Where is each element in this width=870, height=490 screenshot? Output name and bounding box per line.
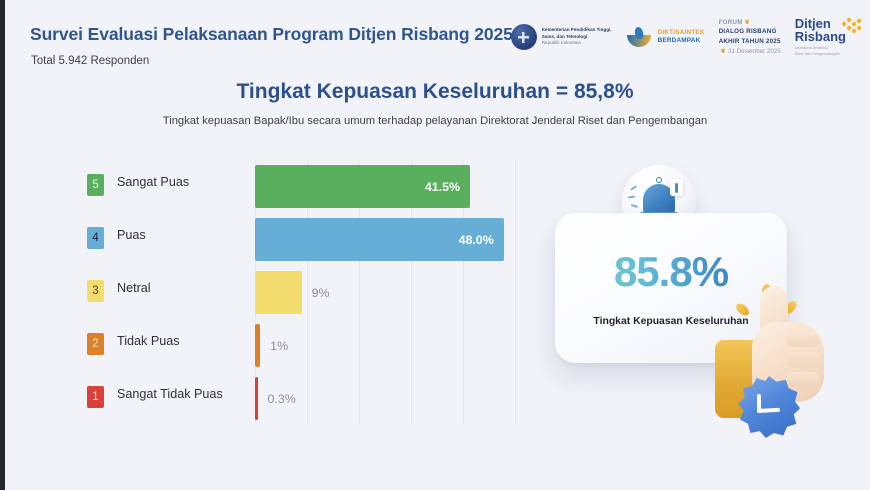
verified-check-badge-icon bbox=[738, 376, 800, 438]
score-badge: 5 bbox=[87, 174, 104, 196]
bar-value-label: 9% bbox=[312, 286, 330, 300]
ditjen-sub2: Riset dan Pengembangan bbox=[795, 51, 846, 57]
thumbs-up-icon bbox=[710, 278, 860, 438]
logo-forum-dialog: FORUM ❦ DIALOG RISBANG AKHIR TAHUN 2025 … bbox=[719, 18, 781, 56]
chart-row: 4Puas48.0% bbox=[30, 213, 540, 266]
diktisaintek-line1: DIKTISAINTEK bbox=[658, 29, 705, 37]
left-edge-strip bbox=[0, 0, 5, 490]
kemdikbud-label: Kementerian Pendidikan Tinggi, Sains, da… bbox=[542, 27, 612, 48]
score-badge: 4 bbox=[87, 227, 104, 249]
respondent-total: Total 5.942 Responden bbox=[31, 55, 149, 67]
chart-row: 5Sangat Puas41.5% bbox=[30, 160, 540, 213]
bar: 48.0% bbox=[255, 218, 504, 261]
logo-group: Kementerian Pendidikan Tinggi, Sains, da… bbox=[511, 14, 862, 60]
category-label: Netral bbox=[117, 281, 151, 295]
category-label: Sangat Puas bbox=[117, 175, 189, 189]
kemdikbud-line3: Republik Indonesia bbox=[542, 40, 612, 47]
category-label: Tidak Puas bbox=[117, 334, 180, 348]
satisfaction-bar-chart: 5Sangat Puas41.5%4Puas48.0%9%3Netral1%2T… bbox=[30, 160, 540, 425]
ditjen-line2: Risbang bbox=[795, 30, 846, 43]
forum-accent-icon: ❦ bbox=[745, 19, 750, 26]
kemdikbud-seal-icon bbox=[511, 24, 537, 50]
bar bbox=[255, 377, 258, 420]
ditjen-line1: Ditjen bbox=[795, 17, 846, 30]
bar-value-label: 48.0% bbox=[459, 233, 494, 247]
diktisaintek-line2: BERDAMPAK bbox=[658, 37, 705, 45]
score-badge: 2 bbox=[87, 333, 104, 355]
chart-row: 0.3%1Sangat Tidak Puas bbox=[30, 372, 540, 425]
forum-line2: DIALOG RISBANG bbox=[719, 27, 781, 37]
bar-value-label: 1% bbox=[270, 339, 288, 353]
forum-line1: FORUM bbox=[719, 19, 743, 26]
header-bar: Survei Evaluasi Pelaksanaan Program Ditj… bbox=[0, 0, 870, 70]
bar-value-label: 41.5% bbox=[425, 180, 460, 194]
kemdikbud-line2: Sains, dan Teknologi bbox=[542, 34, 612, 41]
chart-subtitle: Tingkat kepuasan Bapak/Ibu secara umum t… bbox=[0, 115, 870, 127]
logo-ditjen-risbang: Ditjen Risbang Direktorat Jenderal Riset… bbox=[795, 17, 862, 57]
score-badge: 1 bbox=[87, 386, 104, 408]
category-label: Sangat Tidak Puas bbox=[117, 387, 223, 401]
bar-value-label: 0.3% bbox=[268, 392, 296, 406]
slide-canvas: Survei Evaluasi Pelaksanaan Program Ditj… bbox=[0, 0, 870, 490]
forum-date: 31 Desember 2025 bbox=[728, 48, 781, 55]
bar bbox=[255, 324, 260, 367]
chart-title: Tingkat Kepuasan Keseluruhan = 85,8% bbox=[0, 80, 870, 104]
page-title: Survei Evaluasi Pelaksanaan Program Ditj… bbox=[30, 24, 513, 45]
diktisaintek-mark-icon bbox=[626, 26, 653, 48]
diktisaintek-label: DIKTISAINTEK BERDAMPAK bbox=[658, 29, 705, 45]
forum-date-mark-icon: ❦ bbox=[721, 48, 726, 55]
chart-row: 9%3Netral bbox=[30, 266, 540, 319]
category-label: Puas bbox=[117, 228, 146, 242]
bar: 41.5% bbox=[255, 165, 470, 208]
bar bbox=[255, 271, 302, 314]
logo-diktisaintek: DIKTISAINTEK BERDAMPAK bbox=[626, 26, 705, 48]
logo-kemdikbud: Kementerian Pendidikan Tinggi, Sains, da… bbox=[511, 24, 612, 50]
forum-line3: AKHIR TAHUN 2025 bbox=[719, 37, 781, 47]
bell-tag-icon bbox=[670, 179, 683, 196]
kemdikbud-line1: Kementerian Pendidikan Tinggi, bbox=[542, 27, 612, 34]
ditjen-dots-icon bbox=[842, 18, 864, 32]
score-illustration: 85.8% Tingkat Kepuasan Keseluruhan bbox=[535, 150, 865, 440]
score-badge: 3 bbox=[87, 280, 104, 302]
chart-row: 1%2Tidak Puas bbox=[30, 319, 540, 372]
